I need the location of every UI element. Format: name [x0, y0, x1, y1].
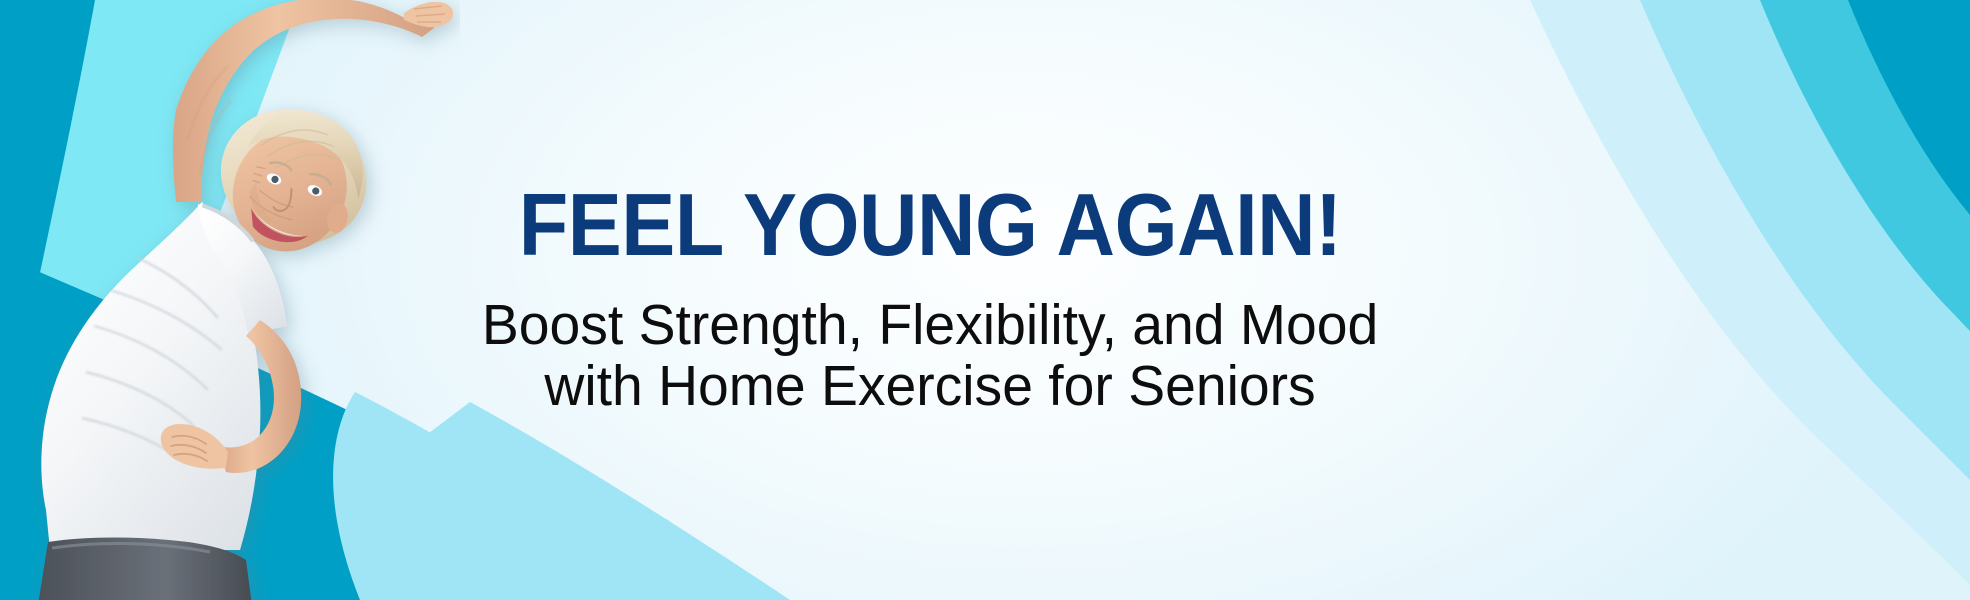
- subtitle-line-2: with Home Exercise for Seniors: [482, 356, 1378, 418]
- banner-headline: FEEL YOUNG AGAIN!: [519, 182, 1342, 268]
- subtitle-line-1: Boost Strength, Flexibility, and Mood: [482, 295, 1378, 357]
- hero-banner: FEEL YOUNG AGAIN! Boost Strength, Flexib…: [0, 0, 1970, 600]
- banner-copy: FEEL YOUNG AGAIN! Boost Strength, Flexib…: [340, 0, 1520, 600]
- banner-subtitle: Boost Strength, Flexibility, and Mood wi…: [482, 295, 1378, 418]
